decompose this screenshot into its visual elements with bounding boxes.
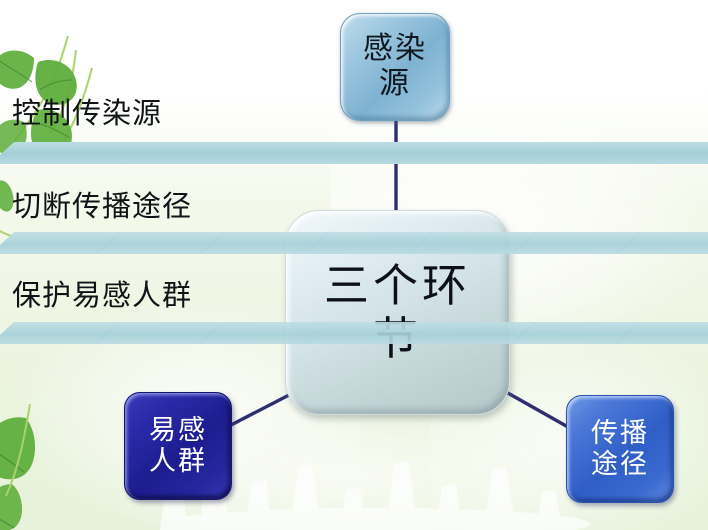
node-route-label: 传播途径 (585, 418, 655, 481)
caption-control-source: 控制传染源 (12, 90, 162, 132)
node-center[interactable]: 三个环节 (285, 210, 510, 415)
node-center-label: 三个环节 (320, 260, 475, 364)
node-susceptible-population[interactable]: 易感人群 (124, 392, 232, 500)
node-transmission-route[interactable]: 传播途径 (566, 395, 674, 503)
slide-canvas: 感染源 三个环节 易感人群 传播途径 控制传染源 切断传播途径 保护易感人群 (0, 0, 708, 530)
caption-protect-susceptible: 保护易感人群 (12, 272, 192, 314)
node-source-label: 感染源 (359, 32, 431, 102)
connector-center-to-route (506, 392, 568, 427)
decoration-band-1 (0, 138, 708, 168)
caption-cut-transmission: 切断传播途径 (12, 183, 192, 225)
node-susceptible-label: 易感人群 (143, 415, 213, 478)
leaf-ornament-lower-icon (0, 392, 86, 530)
connector-center-to-susceptible (231, 394, 291, 425)
node-source[interactable]: 感染源 (340, 13, 450, 121)
